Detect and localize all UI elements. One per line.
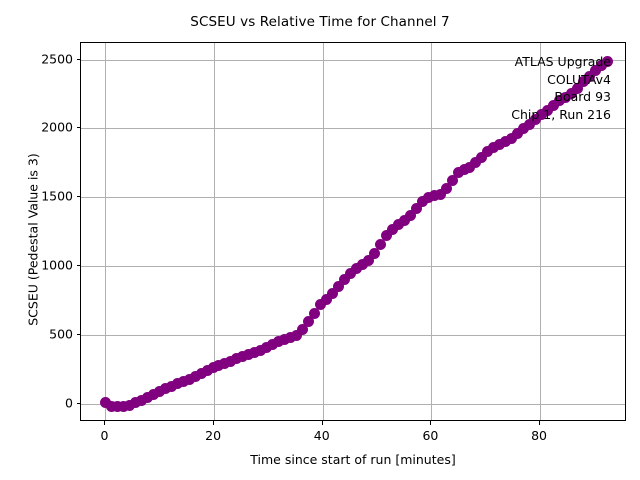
x-tick-mark [322, 421, 323, 425]
y-tick-label: 0 [18, 396, 73, 411]
x-tick-mark [430, 421, 431, 425]
x-tick-mark [213, 421, 214, 425]
y-tick-mark [77, 127, 81, 128]
y-tick-mark [77, 403, 81, 404]
annotation-line-3: Board 93 [511, 88, 611, 106]
gridline-horizontal [81, 335, 625, 336]
gridline-horizontal [81, 197, 625, 198]
gridline-vertical [105, 43, 106, 420]
y-tick-label: 2500 [18, 51, 73, 66]
gridline-horizontal [81, 404, 625, 405]
x-tick-label: 60 [422, 428, 438, 443]
x-tick-label: 80 [531, 428, 547, 443]
y-tick-mark [77, 334, 81, 335]
annotation-line-2: COLUTAv4 [511, 71, 611, 89]
x-tick-label: 0 [100, 428, 108, 443]
y-axis-label: SCSEU (Pedestal Value is 3) [26, 120, 41, 360]
chart-figure: SCSEU vs Relative Time for Channel 7 020… [0, 0, 640, 480]
y-tick-mark [77, 265, 81, 266]
gridline-vertical [323, 43, 324, 420]
x-tick-label: 40 [314, 428, 330, 443]
chart-title: SCSEU vs Relative Time for Channel 7 [0, 14, 640, 30]
x-axis-label: Time since start of run [minutes] [80, 452, 626, 467]
annotation-line-1: ATLAS Upgrade [511, 53, 611, 71]
x-tick-mark [539, 421, 540, 425]
x-tick-label: 20 [205, 428, 221, 443]
x-tick-mark [104, 421, 105, 425]
y-tick-mark [77, 196, 81, 197]
gridline-horizontal [81, 128, 625, 129]
y-tick-mark [77, 59, 81, 60]
gridline-vertical [431, 43, 432, 420]
plot-annotation: ATLAS Upgrade COLUTAv4 Board 93 Chip 1, … [511, 53, 611, 123]
annotation-line-4: Chip 1, Run 216 [511, 106, 611, 124]
